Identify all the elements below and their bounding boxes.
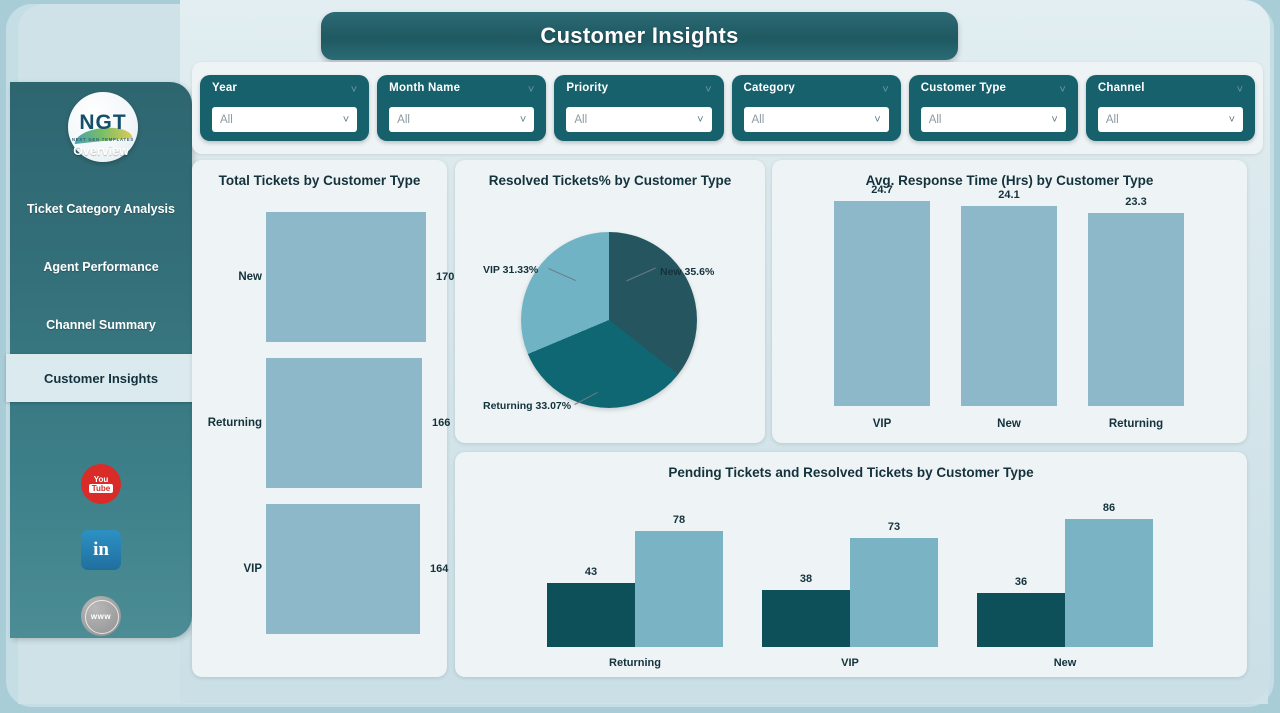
logo-text: NGT <box>79 112 126 133</box>
chevron-down-icon: ˅ <box>520 114 526 126</box>
logo-tagline: NEXT GEN TEMPLATES <box>72 137 134 142</box>
sidebar-item-label: Customer Insights <box>44 371 158 386</box>
bar-category-label: New <box>200 271 262 283</box>
visual-title: Total Tickets by Customer Type <box>192 160 447 188</box>
bar-row[interactable]: VIP 164 <box>192 504 447 634</box>
bar-fill <box>266 358 422 488</box>
sidebar: NGT NEXT GEN TEMPLATES Overview Ticket C… <box>10 82 192 638</box>
visual-resolved-pct[interactable]: Resolved Tickets% by Customer Type New 3… <box>455 160 765 443</box>
slicer-label: Priority <box>566 82 713 94</box>
dashboard-page: NGT NEXT GEN TEMPLATES Overview Ticket C… <box>0 0 1280 713</box>
chevron-down-icon: ˅ <box>1059 84 1065 96</box>
visual-title: Pending Tickets and Resolved Tickets by … <box>455 452 1247 480</box>
bar-fill-pending <box>762 590 850 647</box>
sidebar-item-channel-summary[interactable]: Channel Summary <box>10 296 192 354</box>
bar-column[interactable]: 24.1 <box>961 189 1057 406</box>
bar-fill-resolved <box>1065 519 1153 647</box>
bar-category-label: VIP <box>760 657 940 669</box>
bar-column[interactable]: 23.3 <box>1088 196 1184 406</box>
sidebar-item-label: Ticket Category Analysis <box>27 202 175 216</box>
bar-category-label: New <box>975 657 1155 669</box>
sidebar-item-label: Channel Summary <box>46 318 156 332</box>
visual-total-tickets[interactable]: Total Tickets by Customer Type New 170 R… <box>192 160 447 677</box>
sidebar-nav: Overview Ticket Category Analysis Agent … <box>10 122 192 402</box>
bar-value-label: 24.1 <box>998 189 1019 201</box>
page-header: Customer Insights <box>321 12 958 60</box>
bar-value-label: 164 <box>430 563 448 575</box>
slicer-label: Customer Type <box>921 82 1068 94</box>
sidebar-item-label: Agent Performance <box>43 260 158 274</box>
bar-fill <box>266 212 426 342</box>
bar-group[interactable]: 38 73 <box>762 495 938 647</box>
slicer-dropdown[interactable]: All ˅ <box>566 107 711 132</box>
bar-value-label: 38 <box>800 573 812 585</box>
bar-value-label: 170 <box>436 271 454 283</box>
slicer-dropdown[interactable]: All ˅ <box>744 107 889 132</box>
bar-value-label: 166 <box>432 417 450 429</box>
slicer-dropdown[interactable]: All ˅ <box>1098 107 1243 132</box>
bar-fill-pending <box>547 583 635 647</box>
visual-avg-response-time[interactable]: Avg. Response Time (Hrs) by Customer Typ… <box>772 160 1247 443</box>
bar-column-resolved[interactable]: 86 <box>1065 502 1153 647</box>
chevron-down-icon: ˅ <box>705 84 711 96</box>
chevron-down-icon: ˅ <box>874 114 880 126</box>
slicer-dropdown[interactable]: All ˅ <box>212 107 357 132</box>
youtube-icon[interactable]: You Tube <box>81 464 121 504</box>
linkedin-icon[interactable]: in <box>81 530 121 570</box>
chevron-down-icon: ˅ <box>528 84 534 96</box>
slicer-dropdown[interactable]: All ˅ <box>389 107 534 132</box>
bar-category-label: VIP <box>200 563 262 575</box>
sidebar-item-label: Overview <box>73 144 129 158</box>
bar-value-label: 43 <box>585 566 597 578</box>
globe-ring <box>85 600 119 634</box>
slicer-value: All <box>929 114 942 126</box>
slicer-label: Year <box>212 82 359 94</box>
sidebar-item-customer-insights[interactable]: Customer Insights <box>6 354 196 402</box>
social-links: You Tube in www <box>10 464 192 662</box>
bar-category-label: Returning <box>545 657 725 669</box>
chevron-down-icon: ˅ <box>882 84 888 96</box>
sidebar-item-agent-performance[interactable]: Agent Performance <box>10 238 192 296</box>
bar-value-label: 73 <box>888 521 900 533</box>
bar-column[interactable]: 24.7 <box>834 184 930 406</box>
linkedin-icon-label: in <box>93 539 109 561</box>
bar-group[interactable]: 36 86 <box>977 495 1153 647</box>
bar-column-resolved[interactable]: 78 <box>635 514 723 647</box>
slicer-label: Channel <box>1098 82 1245 94</box>
bar-fill <box>834 201 930 406</box>
pie-plot: New 35.6% Returning 33.07% VIP 31.33% <box>455 200 765 440</box>
chevron-down-icon: ˅ <box>351 84 357 96</box>
chevron-down-icon: ˅ <box>1051 114 1057 126</box>
bar-row[interactable]: New 170 <box>192 212 447 342</box>
slicer-channel[interactable]: Channel ˅ All ˅ <box>1086 75 1255 141</box>
chevron-down-icon: ˅ <box>1229 114 1235 126</box>
bar-column-resolved[interactable]: 73 <box>850 521 938 647</box>
slicer-value: All <box>1106 114 1119 126</box>
bar-column-pending[interactable]: 36 <box>977 576 1065 647</box>
bar-value-label: 23.3 <box>1125 196 1146 208</box>
slicer-customer-type[interactable]: Customer Type ˅ All ˅ <box>909 75 1078 141</box>
bar-fill-resolved <box>850 538 938 647</box>
total-tickets-plot: New 170 Returning 166 VIP 164 <box>192 212 447 652</box>
bar-category-label: Returning <box>1088 418 1184 430</box>
sidebar-item-ticket-category-analysis[interactable]: Ticket Category Analysis <box>10 180 192 238</box>
page-title: Customer Insights <box>540 23 738 49</box>
pie-chart[interactable] <box>521 232 697 408</box>
slicer-value: All <box>752 114 765 126</box>
chevron-down-icon: ˅ <box>697 114 703 126</box>
slicer-dropdown[interactable]: All ˅ <box>921 107 1066 132</box>
bar-value-label: 36 <box>1015 576 1027 588</box>
slicer-value: All <box>574 114 587 126</box>
slicer-priority[interactable]: Priority ˅ All ˅ <box>554 75 723 141</box>
bar-value-label: 86 <box>1103 502 1115 514</box>
youtube-icon-line1: You <box>94 475 109 484</box>
pie-label-vip: VIP 31.33% <box>483 264 538 276</box>
slicer-category[interactable]: Category ˅ All ˅ <box>732 75 901 141</box>
bar-column-pending[interactable]: 43 <box>547 566 635 647</box>
slicer-bar: Year ˅ All ˅ Month Name ˅ All ˅ Priority… <box>192 62 1263 154</box>
pie-label-new: New 35.6% <box>660 266 714 278</box>
bar-fill-pending <box>977 593 1065 647</box>
bar-value-label: 24.7 <box>871 184 892 196</box>
bar-fill <box>266 504 420 634</box>
visual-pending-vs-resolved[interactable]: Pending Tickets and Resolved Tickets by … <box>455 452 1247 677</box>
pie-label-returning: Returning 33.07% <box>483 400 571 412</box>
bar-fill-resolved <box>635 531 723 647</box>
slicer-label: Category <box>744 82 891 94</box>
avg-response-plot: 24.7 VIP 24.1 New 23.3 Returning <box>772 200 1247 440</box>
pending-resolved-plot: 43 78 Returning 38 7 <box>455 488 1247 677</box>
slicer-value: All <box>220 114 233 126</box>
bar-category-label: New <box>961 418 1057 430</box>
chevron-down-icon: ˅ <box>1237 84 1243 96</box>
bar-row[interactable]: Returning 166 <box>192 358 447 488</box>
slicer-value: All <box>397 114 410 126</box>
website-globe-icon[interactable]: www <box>81 596 121 636</box>
slicer-year[interactable]: Year ˅ All ˅ <box>200 75 369 141</box>
slicer-month-name[interactable]: Month Name ˅ All ˅ <box>377 75 546 141</box>
slicer-label: Month Name <box>389 82 536 94</box>
bar-category-label: Returning <box>200 417 262 429</box>
bar-fill <box>1088 213 1184 406</box>
bar-category-label: VIP <box>834 418 930 430</box>
bar-column-pending[interactable]: 38 <box>762 573 850 647</box>
bar-value-label: 78 <box>673 514 685 526</box>
chevron-down-icon: ˅ <box>343 114 349 126</box>
bar-fill <box>961 206 1057 406</box>
youtube-icon-line2: Tube <box>89 484 114 493</box>
bar-group[interactable]: 43 78 <box>547 495 723 647</box>
visual-title: Resolved Tickets% by Customer Type <box>455 160 765 188</box>
